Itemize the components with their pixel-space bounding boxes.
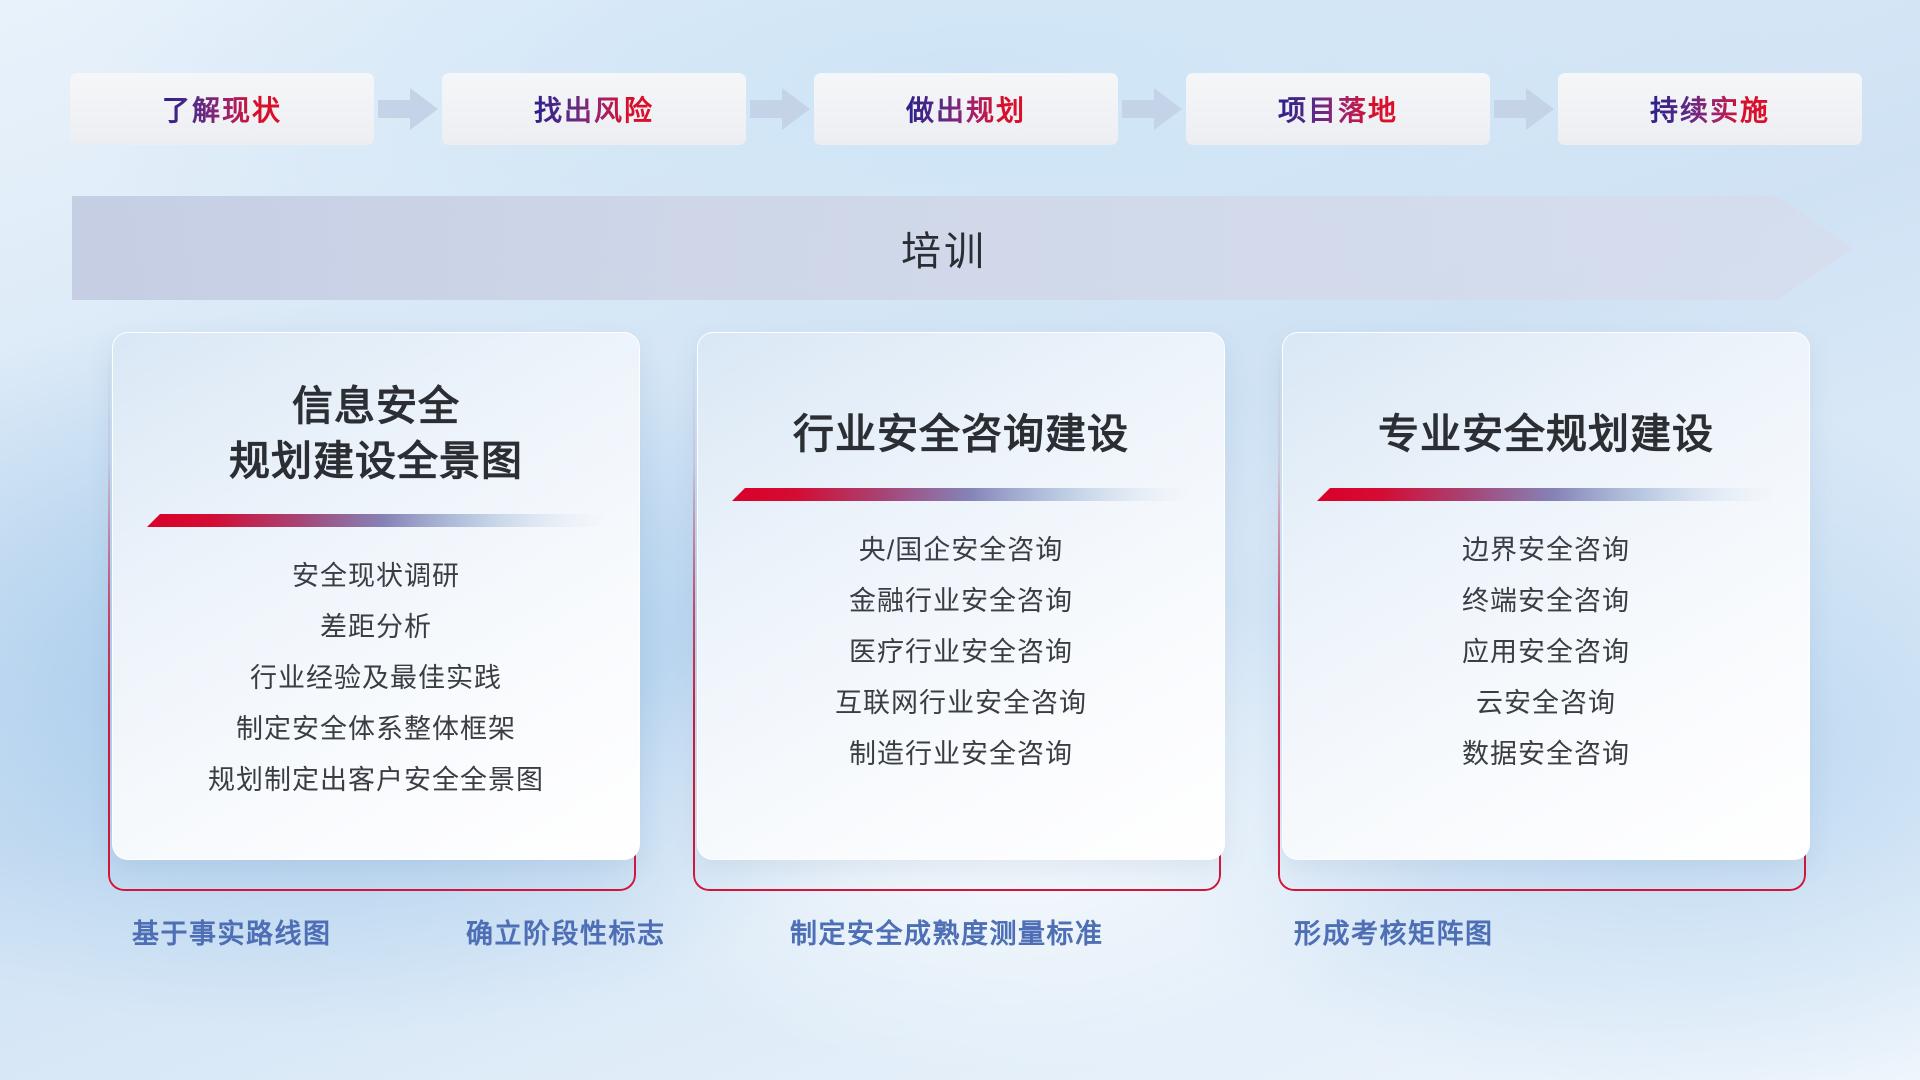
step-label-3: 做出规划 [906,89,1026,129]
footnote-1: 基于事实路线图 [132,912,332,951]
step-box-3[interactable]: 做出规划 [814,73,1118,145]
card-3[interactable]: 专业安全规划建设 [1282,332,1810,860]
card-1[interactable]: 信息安全 规划建设全景图 [112,332,640,860]
list-item: 制定安全体系整体框架 [236,704,516,755]
list-item: 终端安全咨询 [1462,576,1630,627]
list-item: 互联网行业安全咨询 [835,678,1087,729]
card-row: 信息安全 规划建设全景图 [112,332,1812,877]
list-item: 医疗行业安全咨询 [849,627,1073,678]
training-banner: 培训 [72,196,1852,300]
list-item: 制造行业安全咨询 [849,729,1073,780]
footnote-3: 制定安全成熟度测量标准 [790,912,1104,951]
card-wrapper-2: 行业安全咨询建设 [697,332,1225,877]
list-item: 央/国企安全咨询 [859,525,1064,576]
list-item: 云安全咨询 [1476,678,1616,729]
slide-canvas: 了解现状 找出风险 做出规划 项目落地 [0,0,1920,1080]
list-item: 安全现状调研 [292,551,460,602]
step-label-5: 持续实施 [1650,89,1770,129]
step-label-4: 项目落地 [1278,89,1398,129]
training-banner-label: 培训 [72,196,1852,300]
process-step-row: 了解现状 找出风险 做出规划 项目落地 [70,72,1860,146]
card-title-3: 专业安全规划建设 [1364,407,1728,462]
card-list-3: 边界安全咨询 终端安全咨询 应用安全咨询 云安全咨询 数据安全咨询 [1283,525,1809,780]
step-box-5[interactable]: 持续实施 [1558,73,1862,145]
step-arrow-icon-3 [1118,86,1186,132]
list-item: 行业经验及最佳实践 [250,653,502,704]
footnote-2: 确立阶段性标志 [466,912,666,951]
step-box-1[interactable]: 了解现状 [70,73,374,145]
footnote-row: 基于事实路线图 确立阶段性标志 制定安全成熟度测量标准 形成考核矩阵图 [0,912,1920,958]
step-box-4[interactable]: 项目落地 [1186,73,1490,145]
card-list-1: 安全现状调研 差距分析 行业经验及最佳实践 制定安全体系整体框架 规划制定出客户… [113,551,639,806]
card-divider-3 [1317,488,1775,501]
card-wrapper-3: 专业安全规划建设 [1282,332,1810,877]
card-wrapper-1: 信息安全 规划建设全景图 [112,332,640,877]
list-item: 金融行业安全咨询 [849,576,1073,627]
step-arrow-icon-1 [374,86,442,132]
card-2[interactable]: 行业安全咨询建设 [697,332,1225,860]
step-arrow-icon-2 [746,86,814,132]
list-item: 差距分析 [320,602,432,653]
footnote-4: 形成考核矩阵图 [1294,912,1494,951]
card-divider-2 [732,488,1190,501]
card-list-2: 央/国企安全咨询 金融行业安全咨询 医疗行业安全咨询 互联网行业安全咨询 制造行… [698,525,1224,780]
step-arrow-icon-4 [1490,86,1558,132]
list-item: 边界安全咨询 [1462,525,1630,576]
step-label-2: 找出风险 [534,89,654,129]
card-divider-1 [147,514,605,527]
card-title-2: 行业安全咨询建设 [779,407,1143,462]
list-item: 数据安全咨询 [1462,729,1630,780]
card-title-1: 信息安全 规划建设全景图 [215,379,537,488]
step-label-1: 了解现状 [162,89,282,129]
list-item: 规划制定出客户安全全景图 [208,755,544,806]
step-box-2[interactable]: 找出风险 [442,73,746,145]
list-item: 应用安全咨询 [1462,627,1630,678]
